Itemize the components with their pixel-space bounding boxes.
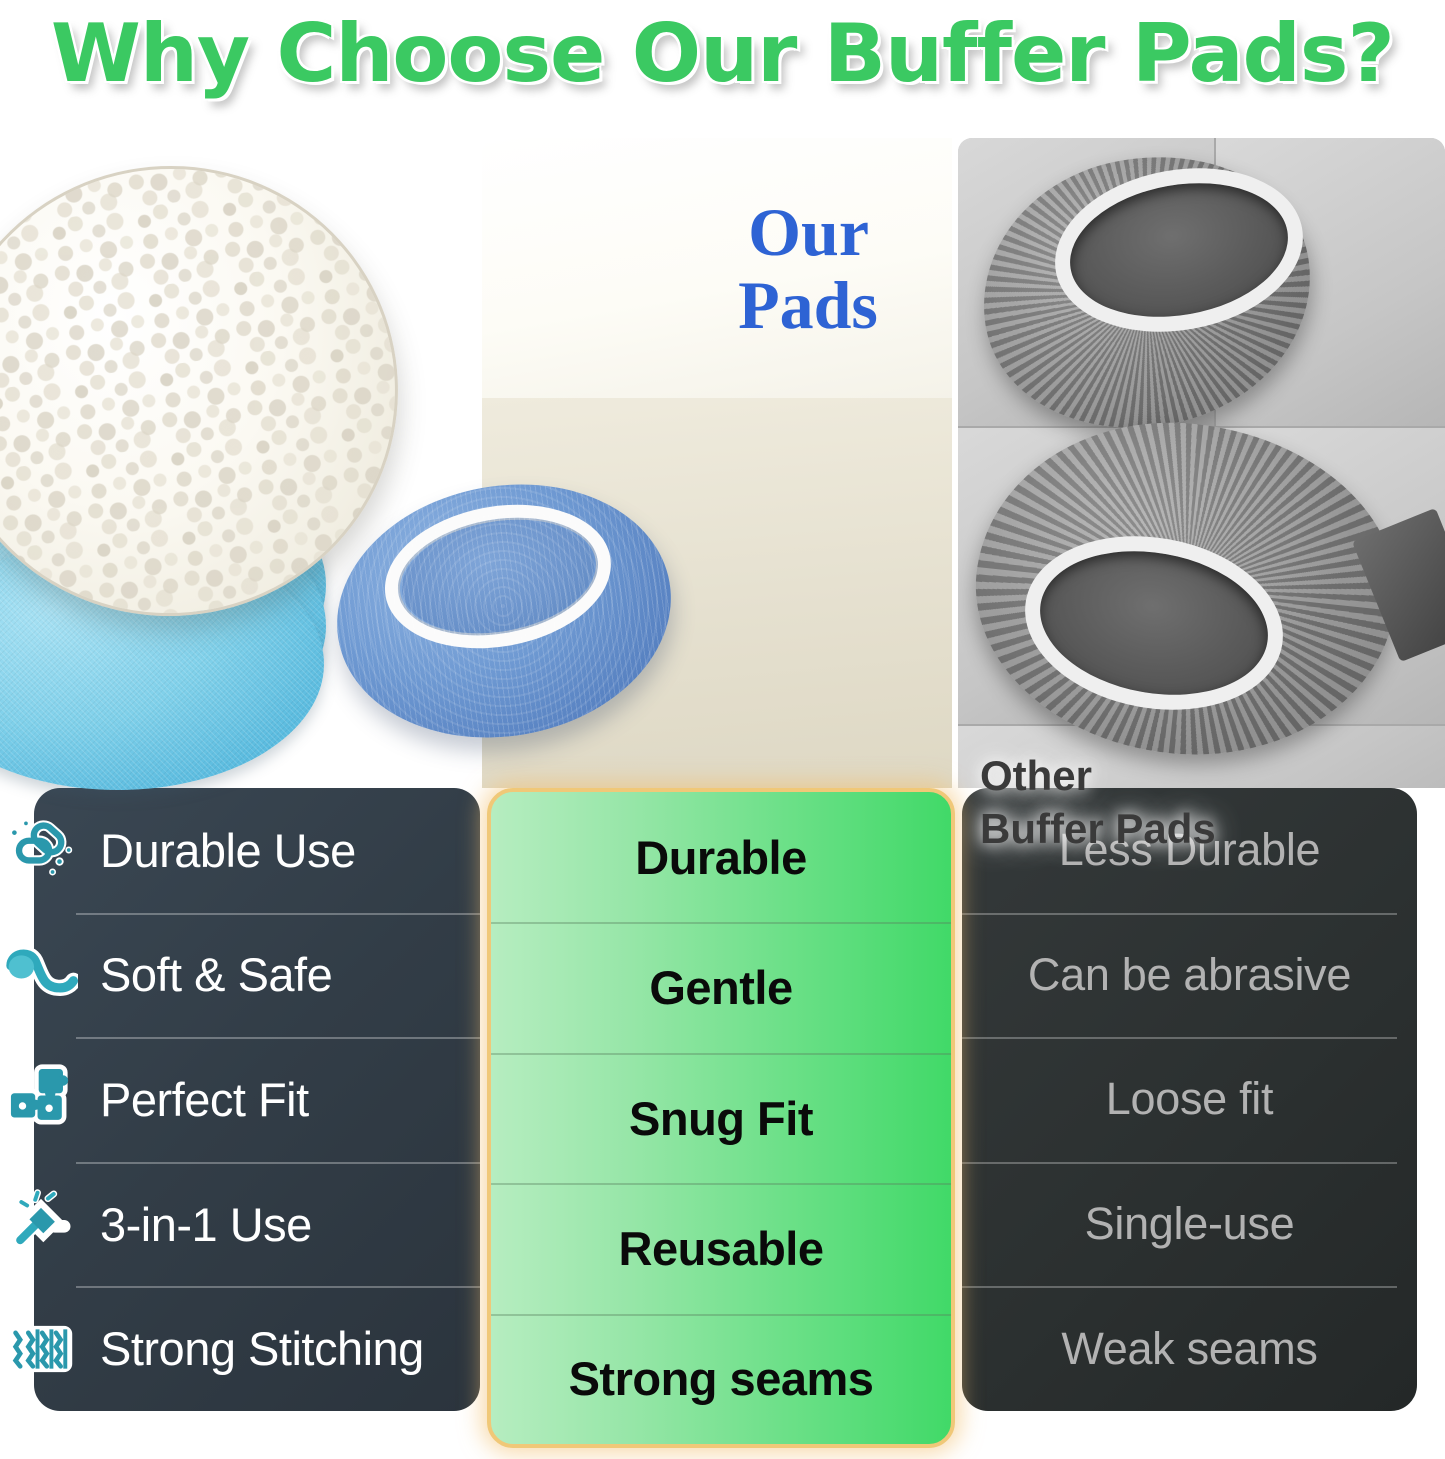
- feature-icon-slot: [0, 1286, 96, 1411]
- bonnet-inner-surface: [392, 505, 603, 647]
- other-pads-photo: [958, 138, 1445, 788]
- feature-icon-slot: [0, 1037, 96, 1162]
- spray-cleaning-icon: [4, 1187, 78, 1261]
- table-row: Perfect Fit: [34, 1037, 480, 1162]
- table-row: Can be abrasive: [962, 913, 1417, 1038]
- our-pads-value: Reusable: [491, 1221, 951, 1276]
- page-header: Why Choose Our Buffer Pads?: [0, 0, 1445, 108]
- table-row: Strong seams: [491, 1314, 951, 1444]
- table-row: Strong Stitching: [34, 1286, 480, 1411]
- our-pads-value: Gentle: [491, 960, 951, 1015]
- other-pads-value: Can be abrasive: [962, 949, 1417, 1001]
- other-pads-value: Single-use: [962, 1198, 1417, 1250]
- table-row: Weak seams: [962, 1286, 1417, 1411]
- table-row: Durable Use: [34, 788, 480, 913]
- feature-column: Durable Use Soft & Safe Perfect Fit 3-in…: [34, 788, 480, 1411]
- feather-soft-icon: [4, 938, 78, 1012]
- table-row: Durable: [491, 792, 951, 922]
- our-pads-label-line1: Our: [748, 194, 868, 270]
- our-pads-value: Snug Fit: [491, 1091, 951, 1146]
- table-row: Snug Fit: [491, 1053, 951, 1183]
- feature-icon-slot: [0, 1162, 96, 1287]
- table-row: Loose fit: [962, 1037, 1417, 1162]
- bonnet-elastic-band: [373, 488, 622, 666]
- feature-icon-slot: [0, 788, 96, 913]
- table-row: Gentle: [491, 922, 951, 1052]
- other-pads-label-line1: Other: [980, 750, 1216, 803]
- other-pads-label-line2: Buffer Pads: [980, 803, 1216, 856]
- other-pads-column: Less Durable Can be abrasive Loose fit S…: [962, 788, 1417, 1411]
- page-title: Why Choose Our Buffer Pads?: [51, 12, 1394, 96]
- table-row: Reusable: [491, 1183, 951, 1313]
- our-pads-value: Durable: [491, 830, 951, 885]
- zigzag-stitching-icon: [4, 1312, 78, 1386]
- our-pads-label: Our Pads: [678, 196, 938, 343]
- chain-link-icon: [4, 813, 78, 887]
- feature-icon-gutter: [0, 788, 96, 1411]
- photo-band: Our Pads Other Buffer Pads: [0, 110, 1445, 788]
- puzzle-pieces-icon: [4, 1062, 78, 1136]
- comparison-table: Durable Use Soft & Safe Perfect Fit 3-in…: [0, 788, 1445, 1448]
- other-pads-label: Other Buffer Pads: [980, 750, 1216, 770]
- other-pads-value: Weak seams: [962, 1323, 1417, 1375]
- our-pads-product-group: [0, 130, 480, 770]
- table-row: Soft & Safe: [34, 913, 480, 1038]
- table-row: 3-in-1 Use: [34, 1162, 480, 1287]
- feature-icon-slot: [0, 913, 96, 1038]
- our-pads-label-line2: Pads: [738, 267, 878, 343]
- table-row: Single-use: [962, 1162, 1417, 1287]
- other-pads-value: Loose fit: [962, 1073, 1417, 1125]
- our-pads-column: Durable Gentle Snug Fit Reusable Strong …: [487, 788, 955, 1448]
- our-pads-value: Strong seams: [491, 1351, 951, 1406]
